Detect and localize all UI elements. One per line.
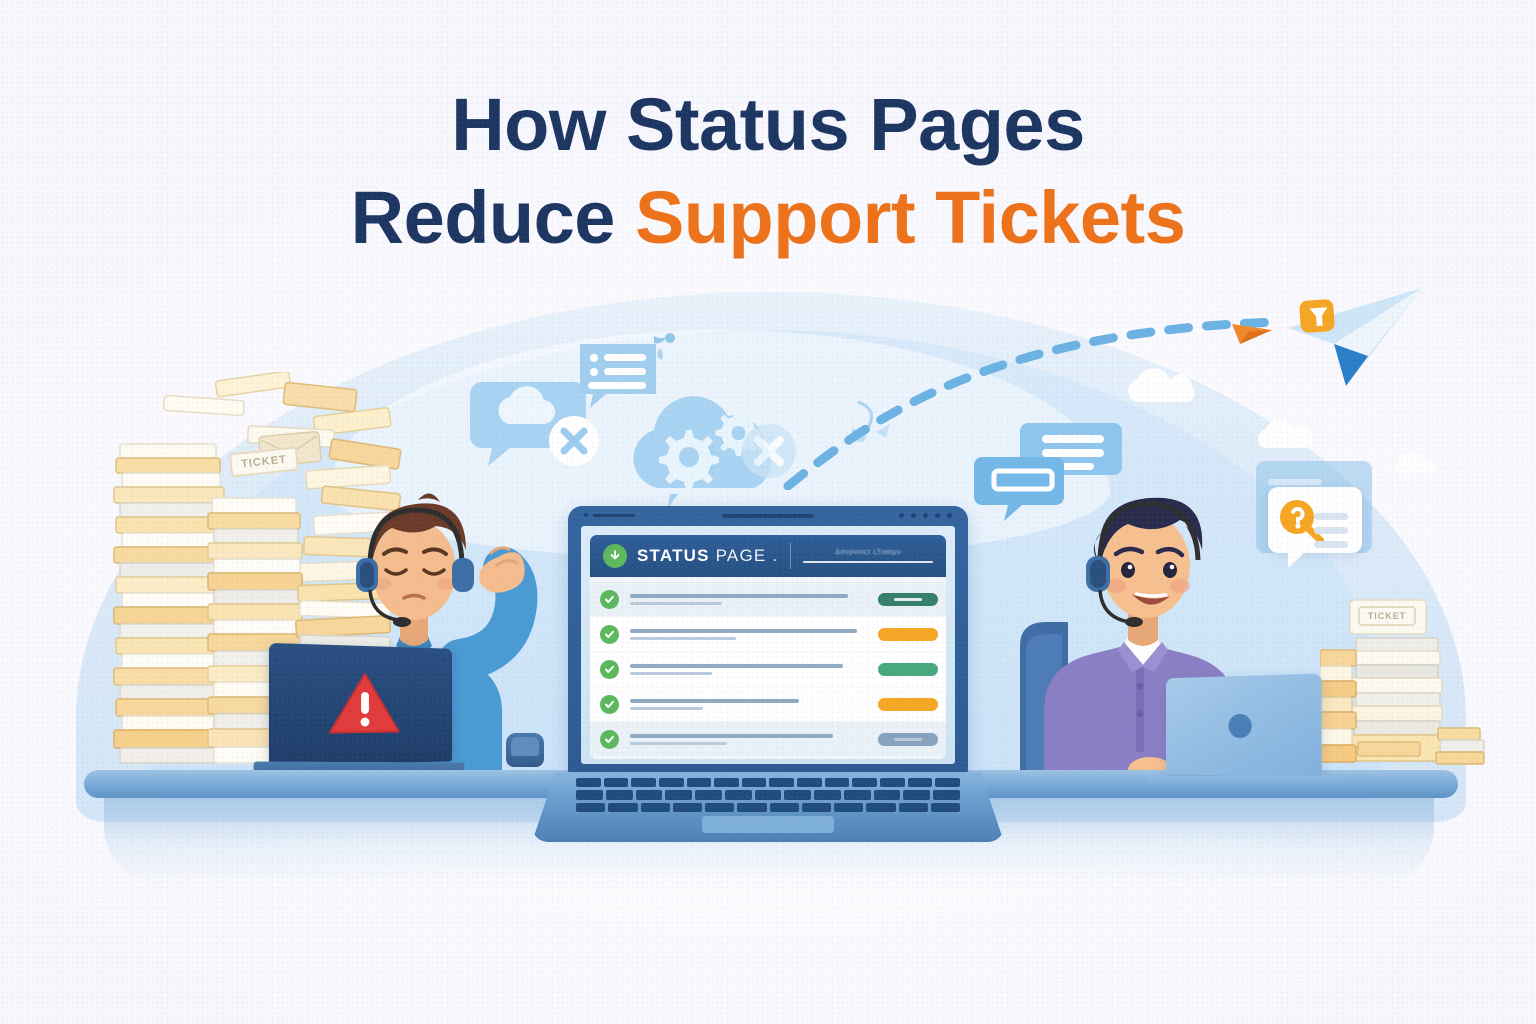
- left-laptop: [272, 646, 472, 779]
- status-page-laptop: STATUS PAGE . Δσυρνιοςτ ζΞιασμν: [568, 506, 968, 846]
- cloud-icon-far-right: [1390, 452, 1444, 478]
- title-line-2-accent: Support Tickets: [635, 176, 1185, 259]
- title-line-2: Reduce Support Tickets: [0, 171, 1536, 264]
- status-badge: [878, 628, 938, 641]
- row-text-placeholder: [619, 699, 872, 710]
- row-text-placeholder: [619, 664, 872, 675]
- ticket-flow-arc: [780, 300, 1300, 490]
- status-badge: [878, 733, 938, 746]
- device-block: [506, 733, 544, 767]
- row-text-placeholder: [619, 629, 872, 640]
- status-badge: [878, 698, 938, 711]
- bezel-indicator-left: [584, 513, 635, 517]
- left-laptop-screen: [269, 643, 452, 767]
- ticket-label-right: TICKET: [1358, 606, 1416, 626]
- illustration-canvas: How Status Pages Reduce Support Tickets: [0, 0, 1536, 1024]
- title-line-1: How Status Pages: [0, 78, 1536, 171]
- status-badge: [878, 663, 938, 676]
- laptop-screen: STATUS PAGE . Δσυρνιοςτ ζΞιασμν: [581, 526, 955, 764]
- status-page-rows: [590, 577, 946, 759]
- title-line-2-prefix: Reduce: [351, 176, 635, 259]
- header-divider: [790, 543, 791, 569]
- status-badge: [878, 593, 938, 606]
- warning-triangle-icon: [326, 667, 403, 744]
- table-row[interactable]: [590, 582, 946, 616]
- table-row[interactable]: [590, 687, 946, 721]
- webcam-strip: [722, 514, 814, 518]
- table-row[interactable]: [590, 617, 946, 651]
- bezel-indicator-dots: [899, 513, 952, 518]
- spark-icon: [646, 330, 682, 364]
- laptop-logo-icon: [1228, 714, 1251, 738]
- paper-plane-icon: [1272, 282, 1432, 402]
- laptop-trackpad[interactable]: [702, 816, 834, 833]
- ticket-pile-right: TICKET: [1320, 588, 1490, 778]
- status-page-brand-bold: STATUS: [637, 546, 710, 565]
- status-page-meta-text: Δσυρνιοςτ ζΞιασμν: [803, 549, 933, 556]
- check-circle-icon: [600, 695, 619, 714]
- check-circle-icon: [600, 730, 619, 749]
- row-text-placeholder: [619, 734, 872, 745]
- faq-help-card: [1268, 487, 1362, 553]
- table-row[interactable]: [590, 722, 946, 756]
- check-circle-icon: [600, 660, 619, 679]
- x-mark-icon: [548, 415, 600, 467]
- table-row[interactable]: [590, 652, 946, 686]
- status-page-meta: Δσυρνιοςτ ζΞιασμν: [803, 549, 933, 563]
- right-laptop-screen: [1166, 673, 1322, 778]
- status-page-brand: STATUS PAGE .: [637, 546, 778, 566]
- status-page-brand-light: PAGE .: [716, 546, 779, 565]
- download-circle-icon: [603, 544, 627, 568]
- right-laptop: [1160, 676, 1336, 791]
- check-circle-icon: [600, 590, 619, 609]
- laptop-keyboard[interactable]: [576, 778, 960, 812]
- right-laptop-base: [1148, 776, 1339, 792]
- status-page-meta-underline: [803, 561, 933, 563]
- page-title: How Status Pages Reduce Support Tickets: [0, 78, 1536, 264]
- status-page-header: STATUS PAGE . Δσυρνιοςτ ζΞιασμν: [590, 535, 946, 577]
- check-circle-icon: [600, 625, 619, 644]
- laptop-base: [532, 772, 1004, 842]
- row-text-placeholder: [619, 594, 872, 605]
- faq-text-lines: [1314, 513, 1348, 555]
- laptop-lid: STATUS PAGE . Δσυρνιοςτ ζΞιασμν: [568, 506, 968, 774]
